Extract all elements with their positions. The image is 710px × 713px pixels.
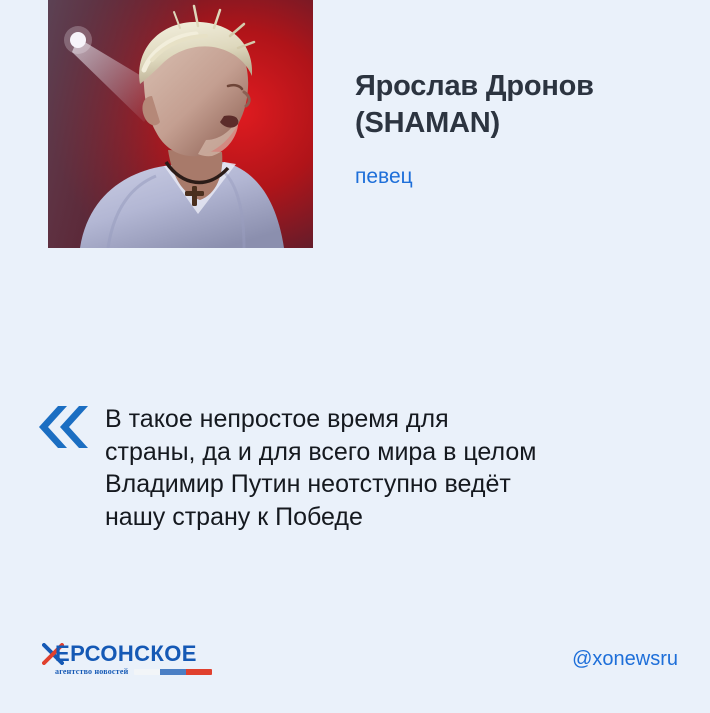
tricolor-bar-icon (134, 669, 212, 675)
footer-section: ЕРСОНСКОЕ агентство новостей @xonewsru (0, 633, 710, 713)
quote-section: В такое непростое время для страны, да и… (36, 400, 676, 533)
logo-wordmark: ЕРСОНСКОЕ (55, 641, 197, 667)
logo-subtitle: агентство новостей (55, 667, 128, 676)
header-section: Ярослав Дронов (SHAMAN) певец (0, 0, 710, 250)
double-chevron-left-icon (36, 400, 92, 450)
kherson-news-logo[interactable]: ЕРСОНСКОЕ агентство новостей (42, 641, 242, 687)
person-role: певец (355, 142, 685, 189)
person-info: Ярослав Дронов (SHAMAN) певец (355, 68, 685, 189)
social-handle[interactable]: @xonewsru (572, 647, 678, 671)
news-quote-card: Ярослав Дронов (SHAMAN) певец В такое не… (0, 0, 710, 713)
quote-text: В такое непростое время для страны, да и… (105, 400, 536, 533)
person-name: Ярослав Дронов (SHAMAN) (355, 68, 685, 142)
performer-photo (48, 0, 313, 248)
